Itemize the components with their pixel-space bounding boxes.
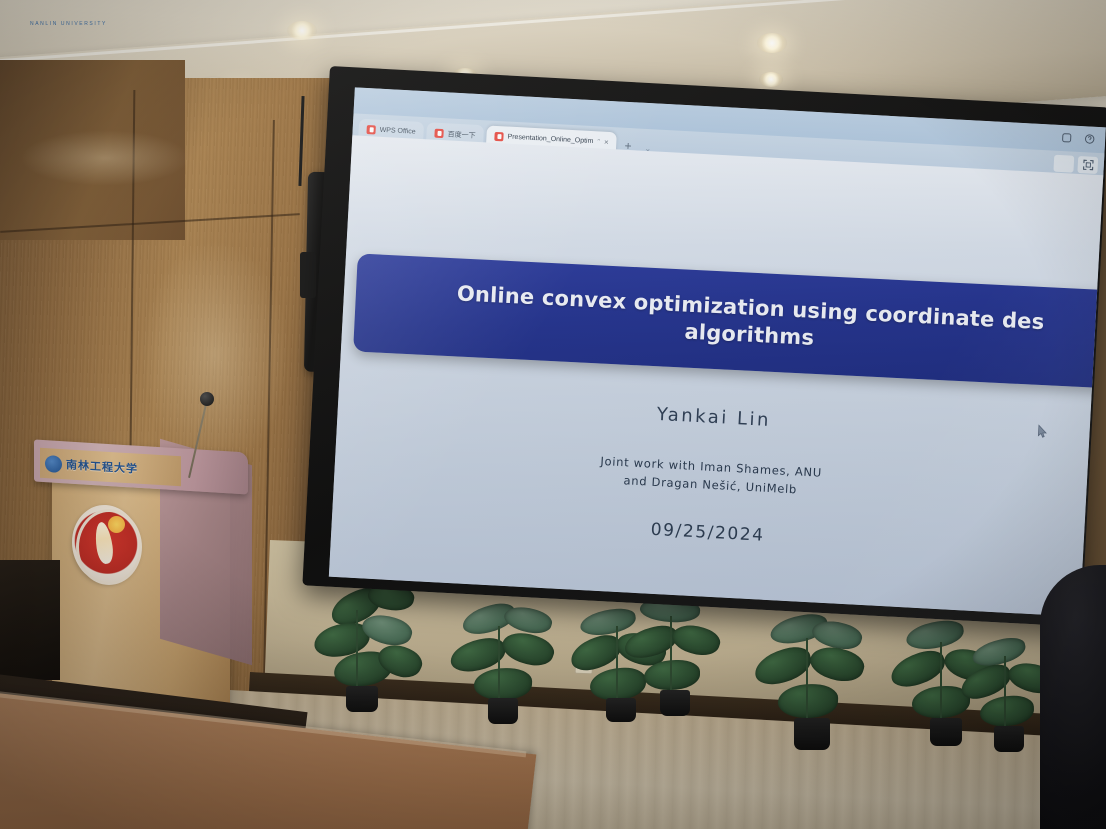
wood-panel-wall-upper: [0, 60, 185, 240]
help-icon[interactable]: [1084, 133, 1096, 145]
foreground-dark-object: [0, 560, 60, 680]
slide-author: Yankai Lin: [338, 387, 1090, 448]
mouse-pointer-icon: [1037, 424, 1048, 439]
slide-title-band: Online convex optimization using coordin…: [353, 253, 1106, 389]
tab-audio-icon[interactable]: ᵔ: [597, 138, 600, 145]
tab-favicon-icon: [434, 129, 443, 138]
wall-display: WPS Office 百度一下 Presentation_Online_Opti…: [302, 66, 1106, 637]
tab-favicon-icon: [494, 132, 503, 141]
tab-label: WPS Office: [379, 127, 415, 136]
window-controls[interactable]: [1061, 132, 1096, 145]
slide-title-line2: algorithms: [684, 320, 815, 350]
university-logo-icon: [45, 454, 62, 472]
slide-title: Online convex optimization using coordin…: [355, 275, 1106, 368]
slide-joint-work: Joint work with Iman Shames, ANU and Dra…: [334, 439, 1087, 515]
microphone-head-icon: [200, 392, 214, 406]
browser-toolbar-right[interactable]: [1053, 155, 1098, 174]
ceiling-downlight: [287, 21, 317, 40]
fullscreen-icon[interactable]: [1077, 156, 1098, 174]
ceiling-downlight: [757, 33, 787, 53]
emblem-sun-icon: [108, 516, 125, 533]
tab-close-icon[interactable]: ×: [604, 138, 609, 146]
slide-date: 09/25/2024: [332, 503, 1084, 563]
display-screen: WPS Office 百度一下 Presentation_Online_Opti…: [329, 87, 1106, 616]
ceiling-downlight: [759, 72, 783, 87]
speaker-bracket: [300, 252, 316, 298]
room-photo-scene: 南林工程大学 NANLIN UNIVERSITY: [0, 0, 1106, 829]
tab-label: 百度一下: [447, 129, 475, 140]
restore-window-icon[interactable]: [1061, 132, 1073, 144]
university-name-cn: 南林工程大学: [66, 456, 138, 476]
presentation-slide: Online convex optimization using coordin…: [329, 135, 1103, 616]
foreground-chair-back: [1040, 565, 1106, 829]
toolbar-blank-button[interactable]: [1053, 155, 1074, 173]
tab-favicon-icon: [366, 125, 375, 134]
university-name-en: NANLIN UNIVERSITY: [30, 21, 107, 27]
